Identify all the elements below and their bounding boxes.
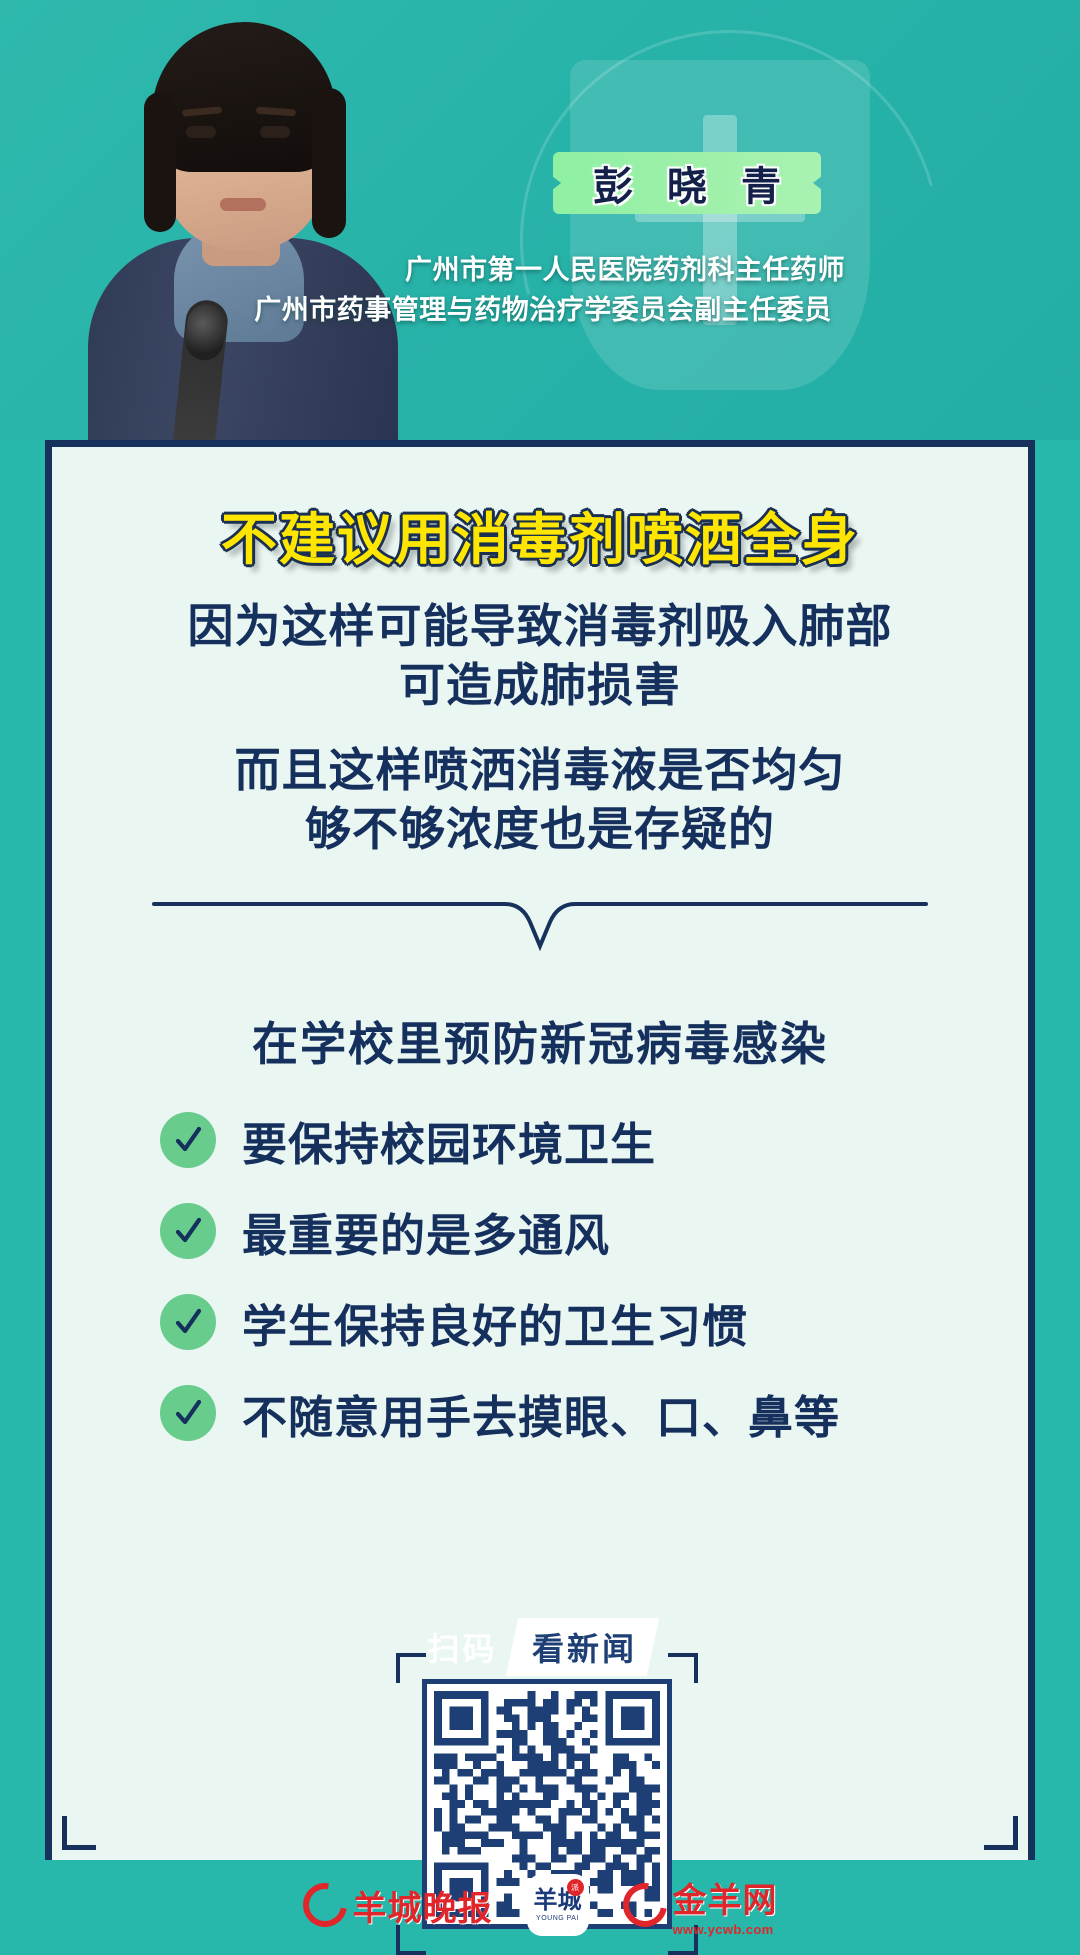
scan-cta: 扫码 看新闻 <box>45 1618 1035 1676</box>
list-item-label: 要保持校园环境卫生 <box>242 1108 656 1173</box>
scan-label: 扫码 <box>427 1624 497 1670</box>
credential-line-1: 广州市第一人民医院药剂科主任药师 <box>0 248 1080 287</box>
section-divider <box>52 896 1028 954</box>
swoosh-icon <box>294 1874 355 1935</box>
list-item-label: 最重要的是多通风 <box>242 1199 610 1264</box>
paragraph-2-line-1: 而且这样喷洒消毒液是否均匀 <box>52 742 1028 801</box>
ycwb-logo: 金羊网 www.ycwb.com <box>623 1873 778 1937</box>
list-item: 学生保持良好的卫生习惯 <box>160 1290 1028 1355</box>
card-headline: 不建议用消毒剂喷洒全身 <box>52 495 1028 576</box>
portrait-of-pharmacist <box>78 0 408 440</box>
medical-shield-icon <box>570 60 870 390</box>
yangcheng-evening-news-logo: 羊城晚报 <box>303 1881 493 1930</box>
yangcheng-evening-news-text: 羊城晚报 <box>353 1881 493 1930</box>
check-icon <box>160 1203 216 1259</box>
paragraph-2: 而且这样喷洒消毒液是否均匀 够不够浓度也是存疑的 <box>52 742 1028 860</box>
swoosh-icon <box>614 1874 675 1935</box>
prevention-checklist: 要保持校园环境卫生 最重要的是多通风 学生保持良好的卫生习惯 不随意用手去摸眼、… <box>52 1108 1028 1446</box>
check-icon <box>160 1385 216 1441</box>
yangcheng-app-logo: 派 羊城 YOUNG PAI <box>527 1874 589 1936</box>
section-title: 在学校里预防新冠病毒感染 <box>52 1008 1028 1074</box>
scan-action-tag[interactable]: 看新闻 <box>505 1618 658 1676</box>
check-icon <box>160 1294 216 1350</box>
paragraph-2-line-2: 够不够浓度也是存疑的 <box>52 801 1028 860</box>
hero-banner: 彭 晓 青 广州市第一人民医院药剂科主任药师 广州市药事管理与药物治疗学委员会副… <box>0 0 1080 440</box>
list-item-label: 学生保持良好的卫生习惯 <box>242 1290 748 1355</box>
ycwb-url: www.ycwb.com <box>673 1922 774 1937</box>
list-item-label: 不随意用手去摸眼、口、鼻等 <box>242 1381 840 1446</box>
check-icon <box>160 1112 216 1168</box>
yangcheng-app-subtext: YOUNG PAI <box>536 1915 579 1922</box>
paragraph-1: 因为这样可能导致消毒剂吸入肺部 可造成肺损害 <box>52 598 1028 716</box>
divider-notch-icon <box>150 896 930 954</box>
paragraph-1-line-1: 因为这样可能导致消毒剂吸入肺部 <box>52 598 1028 657</box>
card-corner-bottom-left <box>62 1816 96 1850</box>
ycwb-text: 金羊网 <box>673 1873 778 1922</box>
card-corner-bottom-right <box>984 1816 1018 1850</box>
list-item: 最重要的是多通风 <box>160 1199 1028 1264</box>
speaker-name: 彭 晓 青 <box>581 154 793 212</box>
list-item: 要保持校园环境卫生 <box>160 1108 1028 1173</box>
paragraph-1-line-2: 可造成肺损害 <box>52 657 1028 716</box>
app-badge: 派 <box>567 1879 584 1896</box>
credential-line-2: 广州市药事管理与药物治疗学委员会副主任委员 <box>0 288 1080 327</box>
footer-logos: 羊城晚报 派 羊城 YOUNG PAI 金羊网 www.ycwb.com <box>0 1862 1080 1948</box>
speaker-name-badge: 彭 晓 青 <box>553 152 821 214</box>
scan-action-label: 看新闻 <box>532 1624 637 1670</box>
list-item: 不随意用手去摸眼、口、鼻等 <box>160 1381 1028 1446</box>
